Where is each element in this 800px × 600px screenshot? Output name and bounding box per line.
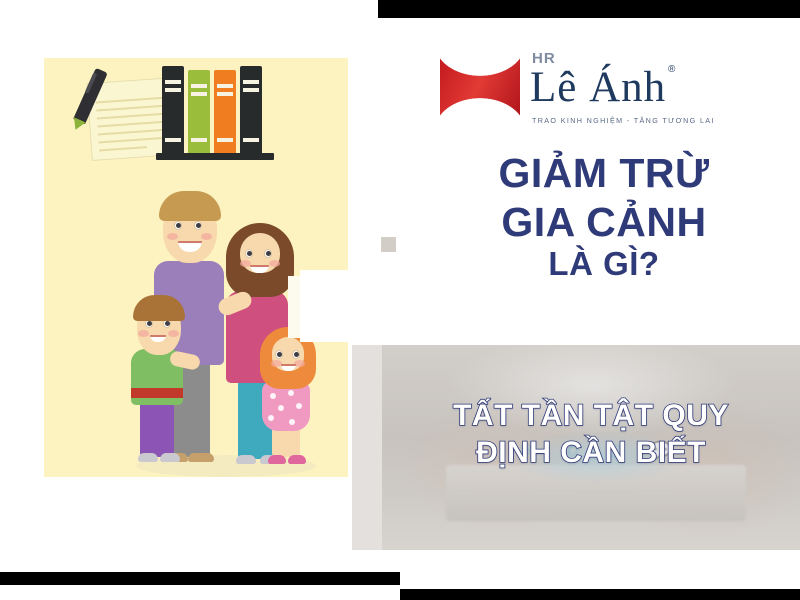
illustration-panel [44,58,348,477]
decor-gray-square [381,237,396,252]
decor-bar-bottom-right [400,589,800,600]
laptop-shape [446,465,746,521]
white-overlay-block [300,270,352,342]
photo-left-gray-band [352,345,383,550]
father-hair [159,191,221,221]
decor-bar-top-right [378,0,800,18]
book-green [188,70,210,154]
subheadline: TẤT TẦN TẬT QUY ĐỊNH CẦN BIẾT [382,398,800,471]
headline-line-2: GIA CẢNH [418,201,790,244]
book-dark-1 [162,66,184,154]
son-legs [140,399,174,457]
headline-line-1: GIẢM TRỪ [418,152,790,195]
subheadline-line-2: ĐỊNH CẦN BIẾT [382,435,800,472]
shelf-base [156,153,274,160]
subheadline-line-1: TẤT TẦN TẬT QUY [382,398,800,435]
decor-bar-bottom-left [0,572,400,585]
bookshelf [162,64,282,160]
daughter-shoe-right [288,455,306,464]
mother-face [240,233,280,273]
book-orange [214,70,236,154]
mother-shoe-left [236,455,256,464]
daughter-shoe-left [268,455,286,464]
registered-mark-icon: ® [668,64,675,75]
son-belt [131,388,183,398]
butterfly-logo-icon [440,46,520,128]
son-shoe-left [138,453,158,462]
brand-logo: HR Lê Ánh ® TRAO KINH NGHIỆM - TĂNG TƯƠN… [440,44,690,132]
daughter-face [272,337,304,371]
logo-tagline: TRAO KINH NGHIỆM - TĂNG TƯƠNG LAI [532,116,715,125]
headline-line-3: LÀ GÌ? [418,247,790,281]
poster-canvas: ✉ ✆ ◎ 💬 HR Lê Ánh ® TRAO KINH NGHIỆM - T… [0,0,800,600]
book-dark-2 [240,66,262,154]
father-shoe-right [188,453,214,462]
son-shoe-right [160,453,180,462]
logo-brand-name: Lê Ánh [530,66,666,109]
headline: GIẢM TRỪ GIA CẢNH LÀ GÌ? [418,152,790,282]
